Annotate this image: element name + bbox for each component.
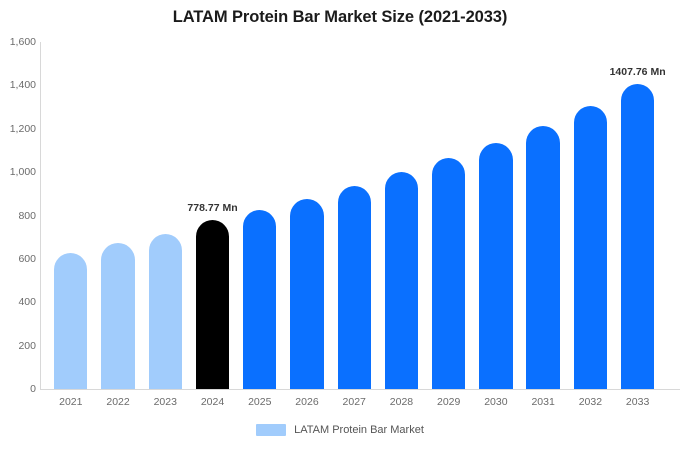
y-axis: 02004006008001,0001,2001,4001,600 — [0, 42, 36, 389]
x-axis-tick-label-2024: 2024 — [196, 396, 229, 408]
bar-2031[interactable] — [526, 126, 559, 389]
legend-label-latam-protein-bar-market: LATAM Protein Bar Market — [294, 424, 424, 436]
bar-value-label-2033: 1407.76 Mn — [610, 66, 666, 78]
x-axis-tick-label-2031: 2031 — [526, 396, 559, 408]
y-axis-tick-label: 1,200 — [2, 123, 36, 135]
x-axis-tick-label-2030: 2030 — [479, 396, 512, 408]
x-axis-tick-label-2032: 2032 — [574, 396, 607, 408]
x-axis-tick-label-2029: 2029 — [432, 396, 465, 408]
bar-group-2026[interactable] — [290, 42, 323, 389]
bar-group-2025[interactable] — [243, 42, 276, 389]
x-axis-tick-label-2025: 2025 — [243, 396, 276, 408]
bar-value-label-2024: 778.77 Mn — [187, 202, 237, 214]
bar-2027[interactable] — [338, 186, 371, 389]
bar-group-2029[interactable] — [432, 42, 465, 389]
x-axis-tick-label-2028: 2028 — [385, 396, 418, 408]
y-axis-tick-label: 0 — [2, 383, 36, 395]
bar-group-2021[interactable] — [54, 42, 87, 389]
x-axis-line — [40, 389, 680, 390]
y-axis-tick-label: 600 — [2, 253, 36, 265]
bar-group-2031[interactable] — [526, 42, 559, 389]
bar-2030[interactable] — [479, 143, 512, 389]
y-axis-tick-label: 200 — [2, 340, 36, 352]
bar-group-2032[interactable] — [574, 42, 607, 389]
bar-2028[interactable] — [385, 172, 418, 389]
y-axis-tick-label: 1,000 — [2, 166, 36, 178]
bar-group-2028[interactable] — [385, 42, 418, 389]
y-axis-tick-label: 1,600 — [2, 36, 36, 48]
legend-swatch-latam-protein-bar-market — [256, 424, 286, 436]
x-axis-tick-label-2033: 2033 — [621, 396, 654, 408]
x-axis-tick-label-2022: 2022 — [101, 396, 134, 408]
bar-2021[interactable] — [54, 253, 87, 389]
x-axis-tick-label-2026: 2026 — [290, 396, 323, 408]
bar-group-2023[interactable] — [149, 42, 182, 389]
bar-2029[interactable] — [432, 158, 465, 389]
y-axis-tick-label: 1,400 — [2, 79, 36, 91]
bar-2025[interactable] — [243, 210, 276, 389]
bar-2024[interactable] — [196, 220, 229, 389]
chart-container: LATAM Protein Bar Market Size (2021-2033… — [0, 0, 680, 450]
y-axis-tick-label: 800 — [2, 210, 36, 222]
x-axis-tick-label-2021: 2021 — [54, 396, 87, 408]
bar-group-2027[interactable] — [338, 42, 371, 389]
chart-legend: LATAM Protein Bar Market — [0, 424, 680, 436]
chart-title: LATAM Protein Bar Market Size (2021-2033… — [0, 8, 680, 27]
bar-group-2024[interactable] — [196, 42, 229, 389]
bar-2026[interactable] — [290, 199, 323, 389]
plot-area — [40, 42, 680, 389]
bar-2022[interactable] — [101, 243, 134, 389]
bar-2023[interactable] — [149, 234, 182, 389]
bar-2032[interactable] — [574, 106, 607, 389]
y-axis-tick-label: 400 — [2, 296, 36, 308]
bar-group-2030[interactable] — [479, 42, 512, 389]
bar-group-2022[interactable] — [101, 42, 134, 389]
x-axis-tick-label-2027: 2027 — [338, 396, 371, 408]
bar-group-2033[interactable] — [621, 42, 654, 389]
x-axis-tick-label-2023: 2023 — [149, 396, 182, 408]
bar-2033[interactable] — [621, 84, 654, 389]
